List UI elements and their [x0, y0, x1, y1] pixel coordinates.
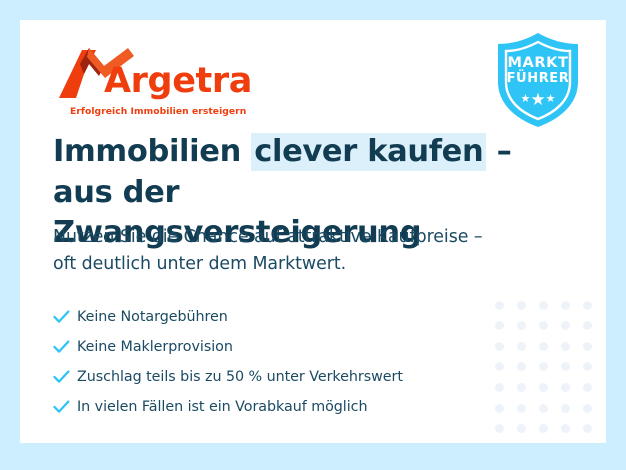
subheadline-line-2: oft deutlich unter dem Marktwert. [53, 251, 553, 278]
subheadline-line-1: Nutzen Sie die Chance auf attraktive Kau… [53, 224, 553, 251]
list-item: In vielen Fällen ist ein Vorabkauf mögli… [53, 392, 523, 422]
dot [539, 404, 548, 413]
dot [561, 362, 570, 371]
dot [583, 383, 592, 392]
check-icon [53, 310, 77, 324]
check-icon [53, 340, 77, 354]
benefit-label: Keine Notargebühren [77, 309, 228, 325]
list-item: Keine Maklerprovision [53, 332, 523, 362]
benefit-label: Zuschlag teils bis zu 50 % unter Verkehr… [77, 369, 403, 385]
dot [583, 362, 592, 371]
benefits-list: Keine Notargebühren Keine Maklerprovisio… [53, 302, 523, 422]
dot [495, 424, 504, 433]
list-item: Zuschlag teils bis zu 50 % unter Verkehr… [53, 362, 523, 392]
headline-highlight: clever kaufen [251, 133, 486, 171]
dot [561, 342, 570, 351]
dot [539, 424, 548, 433]
check-icon [53, 400, 77, 414]
dot [539, 301, 548, 310]
headline-text-before: Immobilien [53, 134, 251, 169]
dot [561, 383, 570, 392]
dot [561, 424, 570, 433]
dot [517, 424, 526, 433]
promo-banner: Argetra Erfolgreich Immobilien ersteiger… [0, 0, 626, 470]
headline-text-after: – [486, 134, 511, 169]
check-icon [53, 370, 77, 384]
list-item: Keine Notargebühren [53, 302, 523, 332]
logo-tagline: Erfolgreich Immobilien ersteigern [70, 106, 246, 117]
subheadline: Nutzen Sie die Chance auf attraktive Kau… [53, 224, 553, 278]
shield-icon [492, 30, 584, 130]
dot [539, 362, 548, 371]
dot [539, 321, 548, 330]
dot [561, 301, 570, 310]
dot [561, 404, 570, 413]
dot [561, 321, 570, 330]
dot [583, 321, 592, 330]
dot [583, 404, 592, 413]
dot [583, 301, 592, 310]
benefit-label: In vielen Fällen ist ein Vorabkauf mögli… [77, 399, 367, 415]
headline-line-1: Immobilien clever kaufen – [53, 132, 553, 173]
logo-wordmark: Argetra [104, 64, 252, 99]
dot [539, 342, 548, 351]
markt-fuehrer-badge: MARKT FÜHRER ★ ★ ★ [492, 30, 584, 130]
banner-canvas: Argetra Erfolgreich Immobilien ersteiger… [20, 20, 606, 443]
dot [583, 342, 592, 351]
benefit-label: Keine Maklerprovision [77, 339, 233, 355]
dot [539, 383, 548, 392]
argetra-logo[interactable]: Argetra Erfolgreich Immobilien ersteiger… [56, 42, 256, 122]
dot [583, 424, 592, 433]
